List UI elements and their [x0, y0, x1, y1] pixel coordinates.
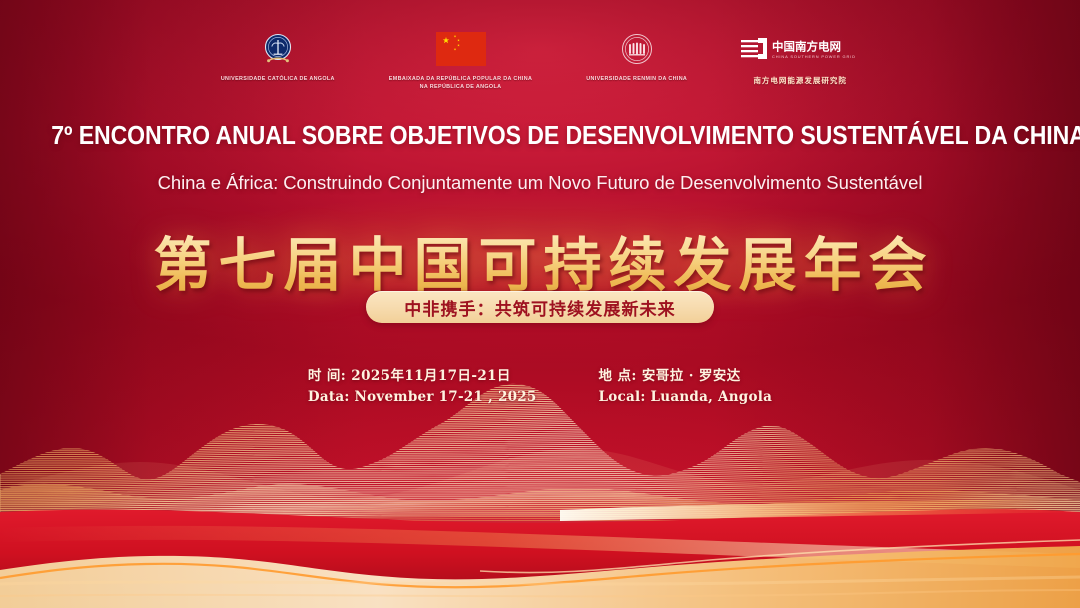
poster-canvas: UNIVERSIDADE CATÓLICA DE ANGOLA EMBAIXAD… [0, 0, 1080, 608]
slogan-text: 中非携手：共筑可持续发展新未来 [404, 295, 676, 320]
page-subtitle-portuguese: China e África: Construindo Conjuntament… [0, 172, 1080, 194]
logo-caption: UNIVERSIDADE CATÓLICA DE ANGOLA [221, 75, 335, 83]
page-title-portuguese: 7º ENCONTRO ANUAL SOBRE OBJETIVOS DE DES… [51, 122, 1028, 151]
logo-china-southern-power-grid: 中国南方电网 CHINA SOUTHERN POWER GRID 南方电网能源发… [741, 30, 859, 86]
slogan-pill: 中非携手：共筑可持续发展新未来 [366, 291, 714, 323]
event-location-portuguese: Local: Luanda, Angola [599, 387, 773, 408]
page-title-chinese: 第七届中国可持续发展年会 [0, 218, 1080, 302]
logo-embaixada-da-china: EMBAIXADA DA REPÚBLICA POPULAR DA CHINA … [389, 30, 532, 91]
logo-caption: 南方电网能源发展研究院 [753, 75, 847, 86]
logo-caption: UNIVERSIDADE RENMIN DA CHINA [586, 75, 687, 83]
mountain-river-decoration [0, 378, 1080, 608]
logo-caption: EMBAIXADA DA REPÚBLICA POPULAR DA CHINA … [389, 75, 532, 91]
renmin-university-seal-icon [620, 30, 654, 68]
crest-tree-emblem-icon [260, 30, 296, 68]
event-location-block: 地 点: 安哥拉 · 罗安达 Local: Luanda, Angola [599, 366, 773, 408]
slogan-banner: 中非携手：共筑可持续发展新未来 [0, 291, 1080, 323]
svg-text:CHINA SOUTHERN POWER GRID: CHINA SOUTHERN POWER GRID [772, 54, 856, 59]
partner-logo-bar: UNIVERSIDADE CATÓLICA DE ANGOLA EMBAIXAD… [0, 30, 1080, 91]
svg-text:中国南方电网: 中国南方电网 [772, 40, 841, 54]
event-date-portuguese: Data: November 17-21 , 2025 [308, 387, 537, 408]
event-date-chinese: 时 间: 2025年11月17日-21日 [308, 366, 537, 387]
event-date-block: 时 间: 2025年11月17日-21日 Data: November 17-2… [308, 366, 537, 408]
event-location-chinese: 地 点: 安哥拉 · 罗安达 [599, 366, 773, 387]
event-info-row: 时 间: 2025年11月17日-21日 Data: November 17-2… [0, 366, 1080, 408]
china-flag-icon [436, 30, 486, 68]
logo-universidade-catolica-de-angola: UNIVERSIDADE CATÓLICA DE ANGOLA [221, 30, 335, 83]
csg-wordmark-icon: 中国南方电网 CHINA SOUTHERN POWER GRID [741, 30, 859, 68]
logo-universidade-renmin-da-china: UNIVERSIDADE RENMIN DA CHINA [586, 30, 687, 83]
